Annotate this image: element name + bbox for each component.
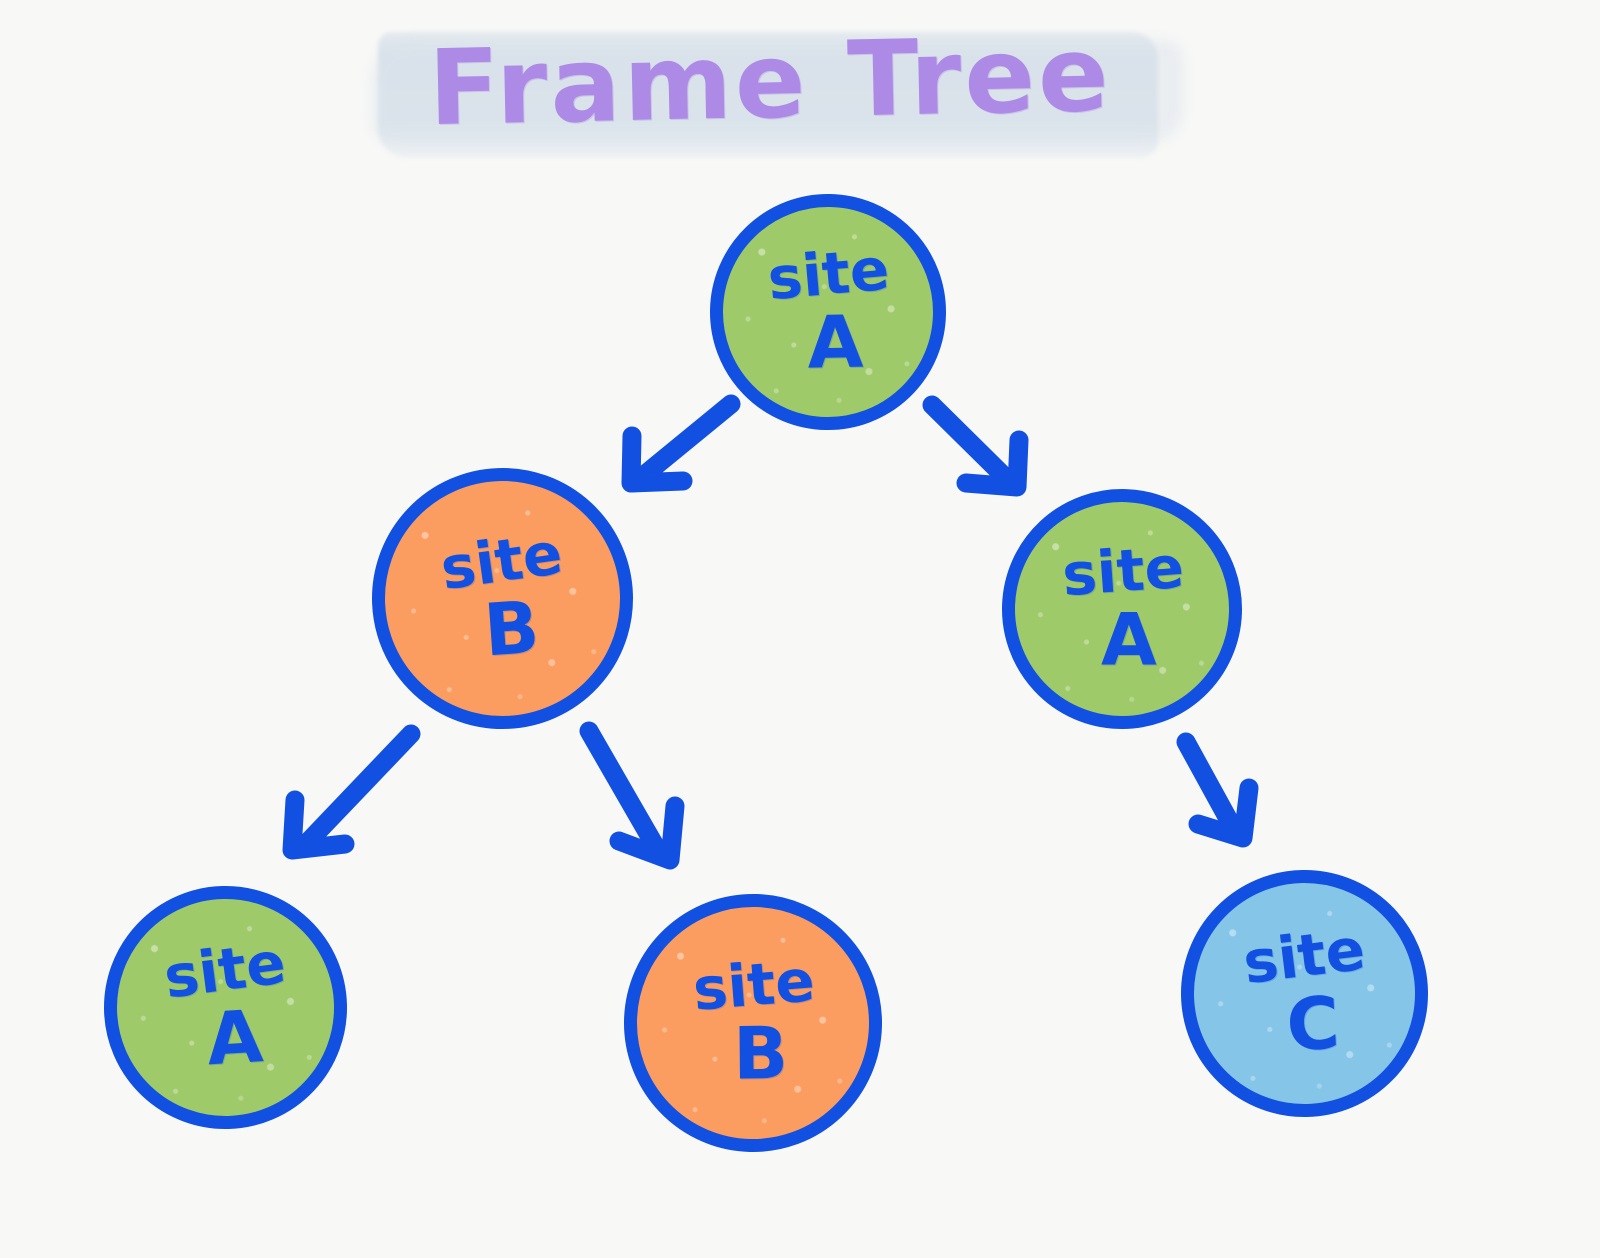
arrow-root-to-site-b <box>631 404 731 483</box>
node-label-line2: A <box>807 308 864 377</box>
node-label-line1: site <box>161 935 289 1005</box>
node-leaf-site-c[interactable]: site C <box>1179 868 1430 1119</box>
node-root-site-a[interactable]: site A <box>708 192 948 432</box>
diagram-title-group: Frame Tree <box>370 18 1170 168</box>
arrow-root-to-site-a-right <box>932 405 1019 487</box>
frame-tree-diagram: Frame Tree site A <box>0 0 1600 1258</box>
node-site-a-right[interactable]: site A <box>998 485 1246 733</box>
node-label-line2: C <box>1285 988 1341 1059</box>
node-site-b[interactable]: site B <box>368 464 638 734</box>
node-label-line2: A <box>1101 606 1157 674</box>
arrow-site-a-to-site-c <box>1186 742 1249 838</box>
arrow-site-b-to-leaf-site-a <box>292 734 411 850</box>
node-label-line2: A <box>204 1002 264 1074</box>
node-label-line2: B <box>732 1019 787 1088</box>
node-label-line1: site <box>1240 922 1367 991</box>
page-title: Frame Tree <box>369 16 1171 147</box>
node-label-line1: site <box>766 242 892 307</box>
arrow-site-b-to-leaf-site-b <box>589 731 675 860</box>
node-label-line1: site <box>1061 540 1186 603</box>
node-leaf-site-b[interactable]: site B <box>621 891 886 1156</box>
node-label-line2: B <box>482 593 542 665</box>
node-leaf-site-a[interactable]: site A <box>101 883 350 1132</box>
node-label-line1: site <box>691 954 816 1018</box>
